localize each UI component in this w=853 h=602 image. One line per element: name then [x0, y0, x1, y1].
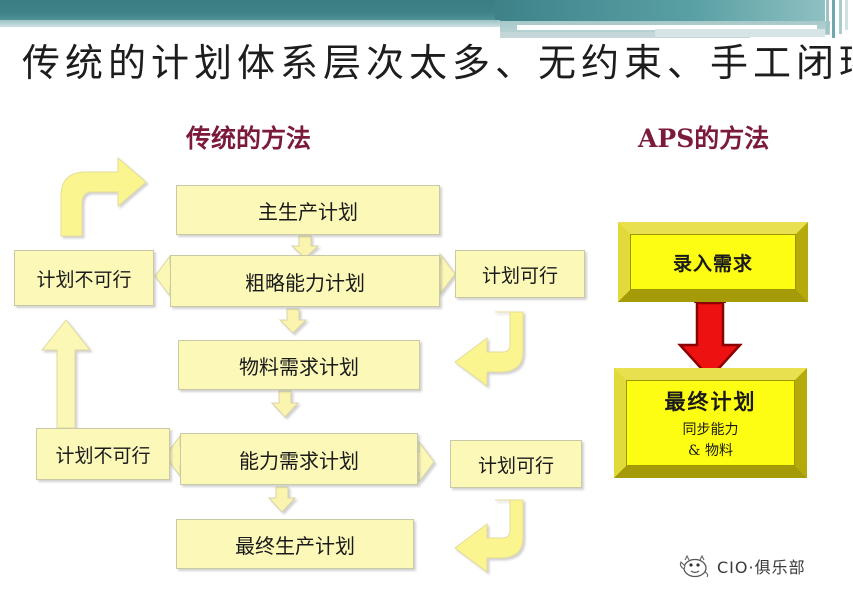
flow-step-2-label: 粗略能力计划 — [245, 267, 365, 296]
header-stripe-3 — [839, 0, 842, 34]
aps-box-final-plan-inner: 最终计划 同步能力 & 物料 — [626, 380, 795, 466]
down-arrow-step4-to-step5 — [269, 487, 295, 512]
heading-aps-method: APS的方法 — [638, 119, 769, 155]
curved-arrow-loop-mid-right — [455, 312, 523, 386]
header-stripe-2 — [832, 0, 835, 38]
flow-step-1[interactable]: 主生产计划 — [176, 185, 440, 235]
feasible-box-bottom[interactable]: 计划可行 — [450, 440, 582, 488]
infeasible-box-top[interactable]: 计划不可行 — [14, 250, 154, 306]
aps-box-final-plan-title: 最终计划 — [665, 386, 757, 416]
aps-box-enter-demand[interactable]: 录入需求 — [618, 222, 808, 302]
flow-step-1-label: 主生产计划 — [258, 196, 358, 225]
infeasible-box-bottom[interactable]: 计划不可行 — [36, 428, 170, 480]
curved-arrow-loop-top-left — [61, 158, 146, 236]
bird-mascot-icon — [676, 552, 710, 580]
down-arrow-step3-to-step4 — [272, 391, 298, 417]
header-stripe-4 — [845, 0, 848, 30]
flow-step-4-label: 能力需求计划 — [239, 445, 359, 474]
aps-box-final-plan-sub2: & 物料 — [688, 440, 733, 460]
feasible-box-bottom-label: 计划可行 — [478, 451, 554, 478]
aps-box-enter-demand-title: 录入需求 — [673, 249, 753, 276]
slide-canvas: 传统的计划体系层次太多、无约束、手工闭环 传统的方法 APS的方法 — [0, 0, 853, 602]
down-arrow-step2-to-step3 — [280, 309, 306, 333]
logo: CIO·俱乐部 — [676, 552, 806, 580]
flow-step-4[interactable]: 能力需求计划 — [180, 433, 418, 485]
flow-step-5[interactable]: 最终生产计划 — [176, 519, 414, 569]
flow-step-3-label: 物料需求计划 — [239, 351, 359, 380]
feasible-box-top[interactable]: 计划可行 — [455, 250, 585, 298]
up-arrow-loop-left — [42, 320, 90, 428]
aps-box-final-plan[interactable]: 最终计划 同步能力 & 物料 — [614, 368, 807, 478]
red-down-arrow — [680, 296, 740, 378]
flow-step-2[interactable]: 粗略能力计划 — [170, 255, 440, 307]
infeasible-box-top-label: 计划不可行 — [36, 265, 131, 292]
header-band-secondary — [495, 0, 825, 22]
feasible-box-top-label: 计划可行 — [482, 261, 558, 288]
flow-step-5-label: 最终生产计划 — [235, 530, 355, 559]
heading-traditional-method: 传统的方法 — [186, 119, 311, 155]
aps-box-final-plan-sub1: 同步能力 — [683, 419, 739, 439]
logo-text: CIO·俱乐部 — [717, 554, 806, 578]
flow-step-3[interactable]: 物料需求计划 — [178, 340, 420, 390]
infeasible-box-bottom-label: 计划不可行 — [55, 441, 150, 468]
header-band-primary — [0, 0, 500, 22]
header-band-light — [0, 20, 500, 27]
header-stripe-1 — [826, 0, 829, 34]
curved-arrow-loop-bottom-right — [455, 500, 523, 572]
slide-title: 传统的计划体系层次太多、无约束、手工闭环 — [22, 32, 822, 87]
aps-box-enter-demand-inner: 录入需求 — [630, 234, 796, 290]
